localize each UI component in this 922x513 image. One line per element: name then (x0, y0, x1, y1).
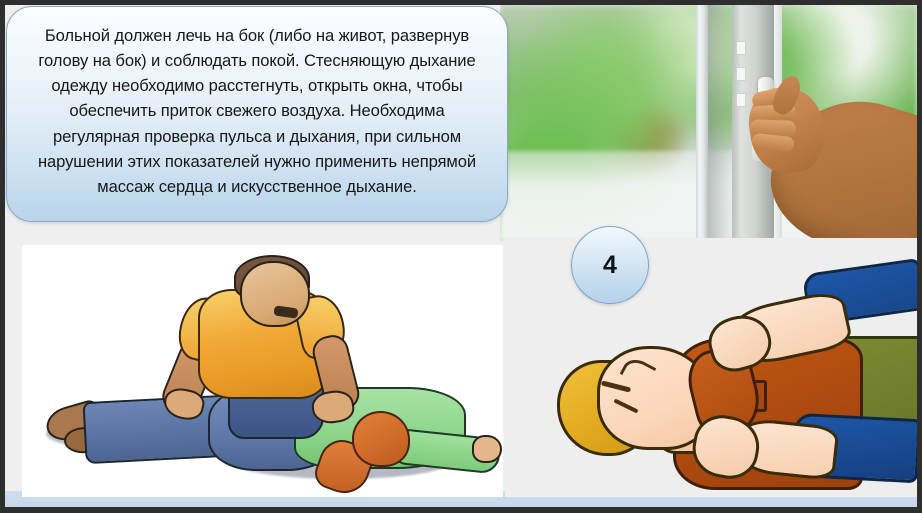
illustration-recovery-position (22, 245, 503, 497)
victim-hand (472, 435, 502, 463)
step-number-label: 4 (603, 251, 617, 280)
frame-edge-left (0, 0, 5, 513)
frame-edge-top (0, 0, 922, 5)
victim-head (352, 411, 410, 467)
window-vent-slot (736, 93, 746, 107)
window-frame-member-1 (696, 5, 708, 241)
instruction-text: Больной должен лечь на бок (либо на живо… (29, 23, 485, 200)
illustration-stage (22, 245, 503, 497)
window-vent-slot (736, 67, 746, 81)
photo-hand-opening-window (500, 5, 917, 241)
step-number-badge: 4 (571, 226, 649, 304)
window-vent-slot (736, 41, 746, 55)
frame-edge-bottom (0, 507, 922, 513)
helper-head (240, 261, 310, 327)
illustration-unbuttoning-clothing (505, 238, 917, 497)
window-sash-shadow (708, 5, 732, 241)
slide-canvas: Больной должен лечь на бок (либо на живо… (0, 0, 922, 513)
instruction-callout: Больной должен лечь на бок (либо на живо… (6, 6, 508, 222)
frame-edge-right (917, 0, 922, 513)
